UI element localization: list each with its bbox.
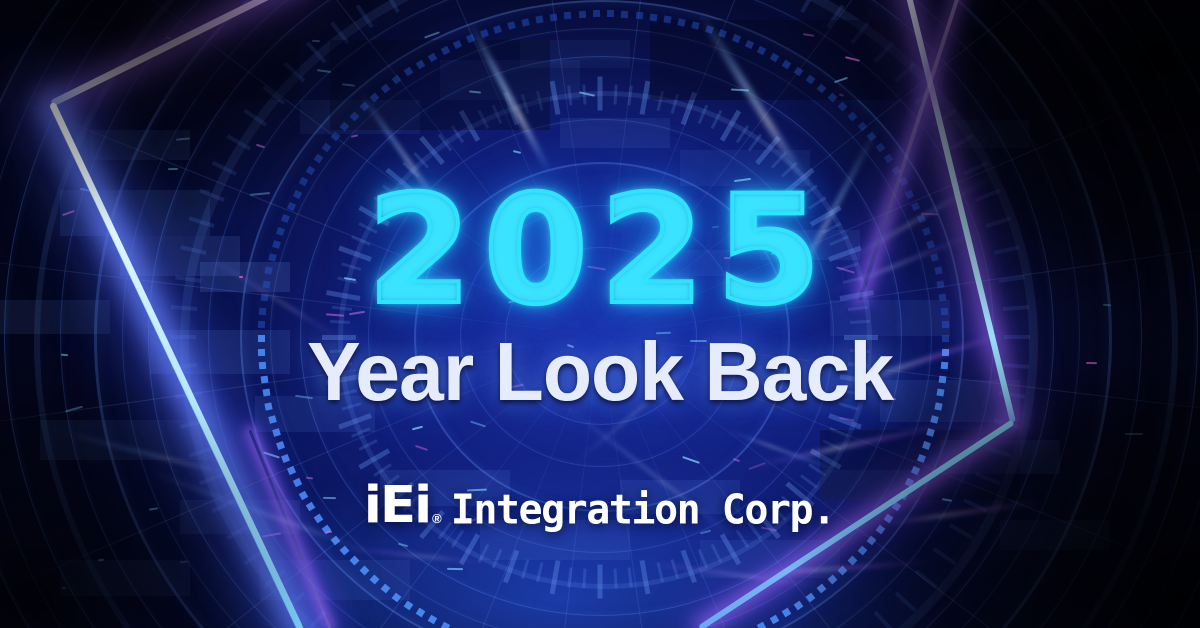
ring-dot	[805, 75, 815, 85]
hud-tick	[306, 611, 327, 628]
hud-tick	[993, 419, 1019, 429]
ring-dot	[593, 10, 600, 17]
hud-tick	[438, 133, 452, 151]
dash-particle	[838, 93, 843, 96]
hud-tick	[748, 133, 762, 151]
ring-dot	[281, 454, 290, 463]
hud-tick	[503, 91, 519, 125]
ring-dot	[857, 121, 867, 131]
hud-tick	[670, 94, 679, 114]
dash-particle	[412, 426, 423, 431]
hud-tick	[263, 85, 286, 104]
hud-tick	[567, 86, 572, 106]
hud-tick	[698, 104, 709, 124]
hud-tick	[503, 550, 519, 584]
hud-tick	[711, 110, 723, 129]
ring-dot	[827, 92, 837, 102]
ring-dot	[359, 101, 369, 111]
hud-tick	[521, 559, 530, 579]
hud-tick	[933, 109, 957, 127]
year-look-back-banner: 2025 Year Look Back iEi ® Integration Co…	[0, 0, 1200, 628]
dash-particle	[312, 40, 320, 42]
ring-dot	[770, 52, 780, 62]
ring-dot	[564, 12, 572, 20]
data-block	[440, 60, 580, 100]
hud-tick	[419, 136, 445, 165]
hud-tick	[212, 161, 237, 176]
ring-dot	[794, 67, 804, 77]
dash-particle	[176, 137, 191, 140]
year-block: 2025	[0, 176, 1200, 326]
ring-dot	[857, 546, 867, 556]
hud-tick	[681, 550, 697, 584]
hud-tick	[567, 567, 572, 587]
ring-dot	[770, 615, 780, 625]
dash-particle	[350, 134, 357, 137]
data-block	[940, 120, 1030, 148]
dash-particle	[447, 568, 463, 570]
ring-dot	[535, 15, 543, 23]
hud-tick	[189, 446, 215, 457]
hud-tick	[810, 449, 842, 470]
ring-dot	[272, 428, 281, 437]
dash-particle	[733, 458, 740, 462]
ring-dot	[867, 132, 877, 142]
ring-dot	[848, 556, 858, 566]
hud-tick	[244, 547, 268, 565]
hud-tick	[549, 561, 560, 595]
ring-dot	[286, 466, 295, 475]
data-block	[520, 40, 630, 68]
ring-dot	[349, 556, 359, 566]
ring-dot	[392, 592, 402, 602]
ring-dot	[782, 608, 792, 618]
hud-tick	[808, 463, 826, 476]
hud-tick	[915, 85, 938, 104]
dash-particle	[803, 33, 815, 37]
dash-particle	[682, 456, 700, 464]
ring-dot	[607, 10, 614, 17]
hud-tick	[477, 110, 489, 129]
dash-particle	[470, 420, 486, 427]
dash-particle	[513, 150, 522, 154]
data-block	[90, 130, 190, 160]
ring-dot	[649, 13, 657, 21]
hud-tick	[477, 544, 489, 563]
hud-tick	[949, 134, 974, 150]
ring-dot	[805, 592, 815, 602]
ring-dot	[922, 441, 931, 450]
hud-tick	[628, 567, 633, 587]
hud-tick	[598, 77, 603, 111]
hud-tick	[755, 136, 781, 165]
hud-tick	[800, 0, 816, 13]
hud-tick	[459, 110, 480, 142]
data-block-dark	[650, 20, 910, 100]
hud-tick	[536, 90, 544, 110]
ring-dot	[507, 21, 516, 30]
hud-tick	[263, 570, 286, 589]
ring-dot	[757, 622, 766, 628]
dash-particle	[62, 587, 66, 589]
hud-tick	[915, 570, 938, 589]
ring-dot	[911, 466, 920, 475]
hud-tick	[492, 549, 503, 569]
hud-tick	[895, 591, 917, 612]
data-block	[60, 560, 190, 596]
ring-dot	[480, 29, 489, 38]
ring-dot	[550, 13, 558, 21]
hud-tick	[711, 544, 723, 563]
ring-dot	[838, 101, 848, 111]
ring-dot	[276, 441, 285, 450]
dash-particle	[166, 36, 171, 38]
ring-dot	[757, 46, 766, 55]
hud-tick	[358, 449, 390, 470]
ring-dot	[340, 546, 350, 556]
ring-dot	[635, 12, 643, 20]
hud-tick	[521, 94, 530, 114]
dash-particle	[263, 451, 280, 458]
dash-particle	[262, 532, 281, 537]
hud-tick	[583, 84, 587, 104]
hud-tick	[736, 125, 749, 143]
ring-dot	[453, 40, 462, 49]
hud-tick	[306, 41, 327, 63]
ring-dot	[705, 25, 714, 34]
dash-particle	[845, 56, 860, 62]
dash-particle	[579, 92, 595, 97]
light-streak	[60, 430, 255, 482]
ring-dot	[493, 25, 502, 34]
ring-dot	[403, 600, 413, 610]
hud-tick	[374, 463, 392, 476]
hud-tick	[850, 22, 869, 45]
ring-dot	[359, 566, 369, 576]
ring-dot	[521, 18, 529, 26]
hud-tick	[720, 110, 741, 142]
light-streak	[467, 22, 552, 175]
ring-dot	[466, 34, 475, 43]
hud-tick	[720, 533, 741, 565]
dash-particle	[317, 69, 331, 73]
purple-neon-segment	[50, 0, 301, 106]
iei-logo: iEi ® Integration Corp.	[0, 483, 1200, 530]
hud-tick	[985, 446, 1011, 457]
dash-particle	[834, 77, 848, 83]
ring-dot	[415, 608, 425, 618]
hud-tick	[283, 62, 305, 83]
hud-tick	[613, 569, 617, 589]
ring-dot	[331, 535, 341, 545]
ring-dot	[392, 75, 402, 85]
registered-trademark-icon: ®	[432, 512, 442, 525]
ring-dot	[370, 575, 380, 585]
ring-dot	[782, 59, 792, 69]
ring-dot	[883, 154, 893, 164]
hud-tick	[823, 440, 842, 452]
dash-particle	[326, 531, 333, 534]
dash-particle	[180, 560, 188, 563]
dash-particle	[214, 446, 219, 448]
hud-tick	[640, 561, 651, 595]
hud-tick	[180, 419, 206, 429]
ring-dot	[621, 11, 628, 18]
data-block	[700, 540, 840, 578]
hud-tick	[895, 62, 917, 83]
data-block	[40, 420, 210, 460]
ring-dot	[314, 154, 324, 164]
hud-tick	[356, 4, 374, 28]
hud-tick	[459, 533, 480, 565]
ring-dot	[817, 83, 827, 93]
dash-particle	[731, 88, 749, 91]
hud-tick	[613, 84, 617, 104]
ring-dot	[718, 29, 727, 38]
ring-dot	[440, 622, 449, 628]
hud-tick	[283, 591, 305, 612]
hud-tick	[963, 161, 988, 176]
ring-dot	[677, 18, 685, 26]
ring-dot	[440, 46, 449, 55]
light-streak	[754, 420, 960, 468]
ring-dot	[744, 40, 753, 49]
ring-dot	[817, 584, 827, 594]
ring-dot	[403, 67, 413, 77]
hud-tick	[244, 109, 268, 127]
hud-tick	[873, 41, 894, 63]
hud-tick	[358, 440, 377, 452]
ring-dot	[415, 59, 425, 69]
hud-tick	[829, 427, 849, 438]
hud-tick	[227, 134, 252, 150]
ring-dot	[917, 454, 926, 463]
light-streak	[330, 545, 489, 565]
hud-tick	[492, 104, 503, 124]
hud-tick	[826, 4, 844, 28]
data-block-dark	[120, 40, 300, 100]
hud-tick	[536, 562, 544, 582]
ring-dot	[663, 15, 671, 23]
hud-tick	[640, 80, 651, 114]
year-text: 2025	[367, 176, 832, 326]
ring-dot	[838, 566, 848, 576]
hud-tick	[383, 0, 399, 13]
ring-dot	[331, 132, 341, 142]
hud-tick	[330, 22, 349, 45]
data-block	[560, 118, 670, 148]
hud-tick	[583, 569, 587, 589]
data-block	[940, 440, 1060, 474]
data-block-dark	[330, 40, 550, 130]
ring-dot	[875, 143, 885, 153]
headline-text: Year Look Back	[18, 324, 1182, 420]
hud-tick	[351, 427, 371, 438]
light-streak	[640, 560, 819, 588]
hud-tick	[933, 547, 957, 565]
data-block	[260, 560, 410, 600]
ring-dot	[578, 11, 585, 18]
hud-tick	[656, 90, 664, 110]
dash-particle	[939, 465, 948, 468]
hud-tick	[681, 91, 697, 125]
ring-dot	[306, 165, 316, 175]
light-streak	[740, 560, 930, 577]
ring-dot	[691, 21, 700, 30]
ring-dot	[927, 428, 936, 437]
ring-dot	[322, 143, 332, 153]
dash-particle	[1125, 433, 1143, 435]
hud-tick	[873, 611, 894, 628]
dash-particle	[98, 559, 105, 562]
ring-dot	[381, 584, 391, 594]
hud-tick	[598, 564, 603, 598]
ring-dot	[349, 111, 359, 121]
hud-tick	[698, 549, 709, 569]
ring-dot	[891, 165, 901, 175]
hud-tick	[628, 86, 633, 106]
ring-dot	[340, 121, 350, 131]
hud-tick	[450, 125, 463, 143]
dash-particle	[255, 144, 264, 149]
dash-particle	[398, 542, 408, 547]
hud-tick	[549, 80, 560, 114]
ring-dot	[827, 575, 837, 585]
dash-particle	[168, 167, 178, 169]
hud-tick	[656, 562, 664, 582]
ring-dot	[794, 600, 804, 610]
logo-company-name: Integration Corp.	[451, 490, 835, 531]
dash-particle	[469, 90, 481, 93]
ring-dot	[370, 92, 380, 102]
dash-particle	[424, 32, 439, 39]
dash-particle	[306, 477, 313, 480]
ring-dot	[731, 34, 740, 43]
light-streak	[727, 429, 841, 473]
logo-mark-iei: iEi	[364, 483, 430, 530]
data-block	[300, 100, 420, 134]
dash-particle	[342, 83, 355, 86]
hud-tick	[670, 559, 679, 579]
dash-particle	[415, 445, 428, 451]
ring-dot	[428, 52, 438, 62]
ring-dot	[867, 535, 877, 545]
dash-particle	[748, 461, 766, 469]
ring-dot	[428, 615, 438, 625]
ring-dot	[848, 111, 858, 121]
ring-dot	[381, 83, 391, 93]
